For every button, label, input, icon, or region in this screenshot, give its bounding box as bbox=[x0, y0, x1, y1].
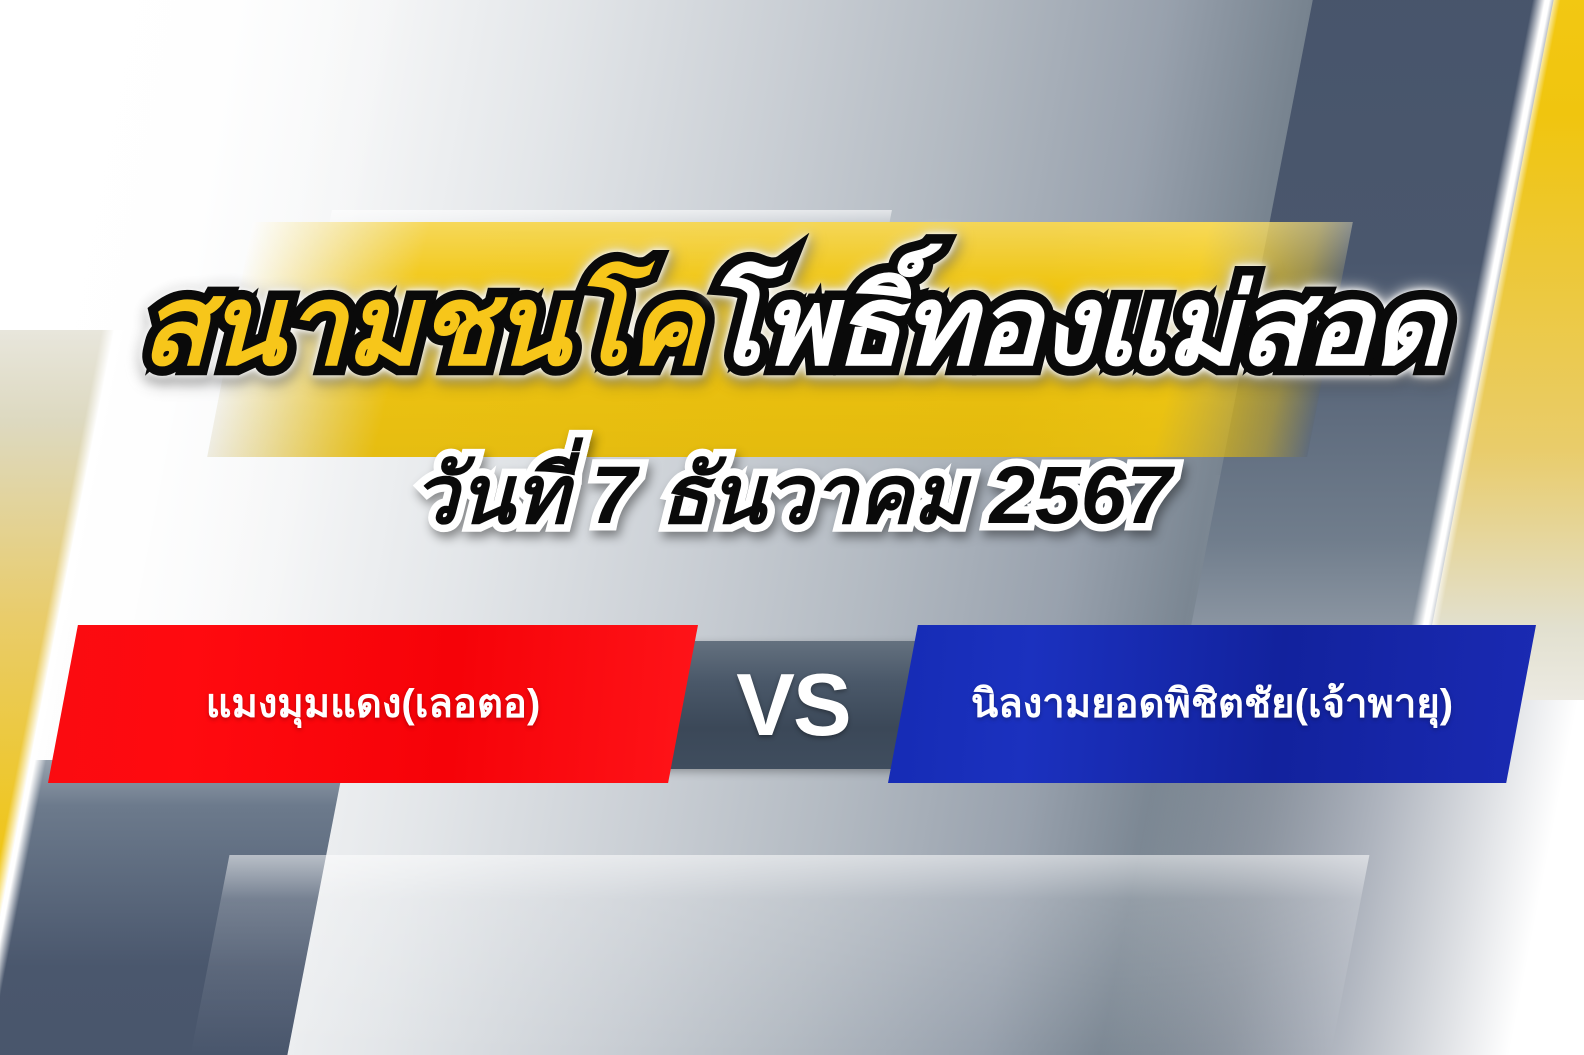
poster-date: วันที่ 7 ธันวาคม 2567 bbox=[0, 455, 1584, 537]
poster-title-venue-suffix: โพธิ์ทองแม่สอด bbox=[702, 263, 1444, 388]
red-team-name: แมงมุมแดง(เลอตอ) bbox=[206, 684, 541, 724]
background-highlight-bottom bbox=[191, 855, 1370, 1055]
blue-team-banner[interactable]: นิลงามยอดพิชิตชัย(เจ้าพายุ) bbox=[888, 625, 1536, 783]
poster-title: สนามชนโคโพธิ์ทองแม่สอด bbox=[0, 270, 1584, 382]
poster-date-text: วันที่ 7 ธันวาคม 2567 bbox=[412, 450, 1172, 541]
red-team-banner[interactable]: แมงมุมแดง(เลอตอ) bbox=[48, 625, 698, 783]
poster-title-venue-prefix: สนามชนโค bbox=[141, 263, 702, 388]
versus-label: VS bbox=[736, 661, 849, 749]
fight-card-poster: สนามชนโคโพธิ์ทองแม่สอด วันที่ 7 ธันวาคม … bbox=[0, 0, 1584, 1055]
blue-team-name: นิลงามยอดพิชิตชัย(เจ้าพายุ) bbox=[971, 684, 1453, 724]
